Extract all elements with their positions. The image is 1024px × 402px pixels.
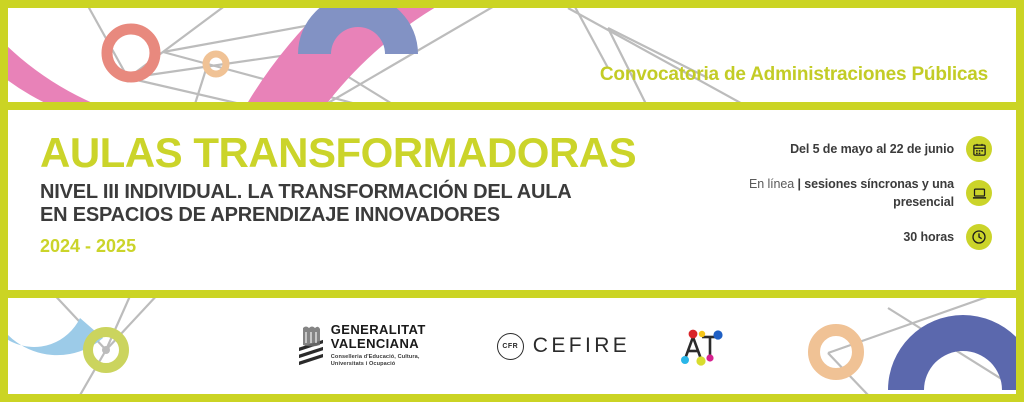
logo-at <box>676 325 726 367</box>
info-row-hours: 30 horas <box>742 224 992 250</box>
info-modality-text: En línea | sesiones síncronas y una pres… <box>742 175 954 211</box>
at-dot-yellow <box>699 331 705 337</box>
gva-text-block: GENERALITAT VALENCIANA Conselleria d'Edu… <box>331 323 451 369</box>
calendar-icon <box>966 136 992 162</box>
banner-root: Convocatoria de Administraciones Pública… <box>0 0 1024 402</box>
page-title: AULAS TRANSFORMADORAS <box>40 132 636 175</box>
info-hours-value: 30 horas <box>903 230 954 244</box>
gva-line-1: GENERALITAT <box>331 323 451 337</box>
logo-cefire: CFR CEFIRE <box>497 333 630 360</box>
clock-icon <box>966 224 992 250</box>
bottom-logo-panel: GENERALITAT VALENCIANA Conselleria d'Edu… <box>8 298 1016 394</box>
top-network-graphic <box>8 8 1016 102</box>
at-dot-blue <box>714 330 723 339</box>
headline-block: AULAS TRANSFORMADORAS NIVEL III INDIVIDU… <box>40 132 636 257</box>
subtitle-line-2: EN ESPACIOS DE APRENDIZAJE INNOVADORES <box>40 204 636 228</box>
info-row-dates: Del 5 de mayo al 22 de junio <box>742 136 992 162</box>
at-dot-cyan <box>681 356 689 364</box>
info-list: Del 5 de mayo al 22 de junio <box>742 136 992 263</box>
info-modality-value: | sesiones síncronas y una presencial <box>797 177 954 209</box>
cefire-mark: CFR <box>497 333 524 360</box>
edition-years: 2024 - 2025 <box>40 236 636 257</box>
laptop-icon <box>966 180 992 206</box>
peach-ring <box>206 54 226 74</box>
logo-generalitat-valenciana: GENERALITAT VALENCIANA Conselleria d'Edu… <box>298 323 451 369</box>
kicker-text: Convocatoria de Administraciones Pública… <box>600 64 988 86</box>
info-modality-prefix: En línea <box>749 177 797 191</box>
logo-strip: GENERALITAT VALENCIANA Conselleria d'Edu… <box>8 298 1016 394</box>
info-hours-text: 30 horas <box>903 228 954 246</box>
gva-subtitle: Conselleria d'Educació, Cultura, Univers… <box>331 354 451 369</box>
network-lines <box>78 8 768 102</box>
gva-shield-icon <box>298 324 324 368</box>
subtitle-line-1: NIVEL III INDIVIDUAL. LA TRANSFORMACIÓN … <box>40 181 636 205</box>
info-dates-text: Del 5 de mayo al 22 de junio <box>790 140 954 158</box>
at-dot-red <box>689 330 698 339</box>
cefire-wordmark: CEFIRE <box>533 334 630 358</box>
content-panel: AULAS TRANSFORMADORAS NIVEL III INDIVIDU… <box>8 110 1016 290</box>
top-decorative-panel: Convocatoria de Administraciones Pública… <box>8 8 1016 102</box>
at-dot-lime <box>697 356 706 365</box>
gva-line-2: VALENCIANA <box>331 337 451 351</box>
info-dates-value: Del 5 de mayo al 22 de junio <box>790 142 954 156</box>
info-row-modality: En línea | sesiones síncronas y una pres… <box>742 175 992 211</box>
at-dot-magenta <box>707 354 714 361</box>
page-subtitle: NIVEL III INDIVIDUAL. LA TRANSFORMACIÓN … <box>40 181 636 228</box>
at-logo-icon <box>676 325 726 367</box>
